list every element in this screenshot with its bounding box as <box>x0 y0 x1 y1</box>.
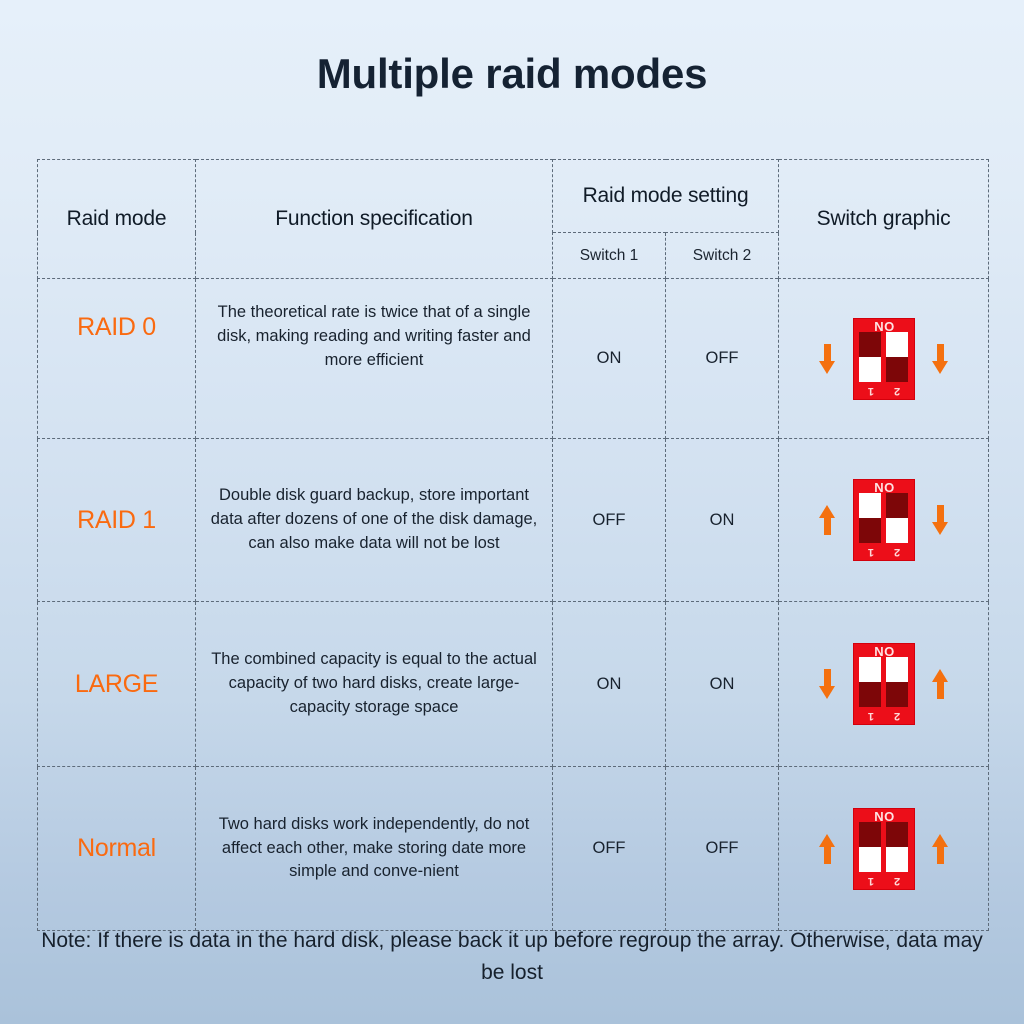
dip-switch-graphic: 2 1 ON <box>779 808 988 890</box>
dip-switch-2 <box>886 494 908 544</box>
header-switch-2: Switch 2 <box>666 233 779 279</box>
arrow-down-icon <box>932 344 949 374</box>
arrow-up-icon <box>932 669 949 699</box>
table-row: LARGE The combined capacity is equal to … <box>38 602 989 767</box>
dip-label-2: 2 <box>894 385 900 396</box>
arrow-up-icon <box>819 505 836 535</box>
dip-switch-graphic: 2 1 ON <box>779 643 988 725</box>
function-specification-text: The theoretical rate is twice that of a … <box>196 279 553 439</box>
function-specification-text: Two hard disks work independently, do no… <box>196 767 553 931</box>
header-function-specification: Function specification <box>196 160 553 279</box>
dip-slider <box>859 658 881 683</box>
function-specification-text: The combined capacity is equal to the ac… <box>196 602 553 767</box>
header-switch-1: Switch 1 <box>553 233 666 279</box>
dip-label-2: 2 <box>894 546 900 557</box>
header-raid-mode: Raid mode <box>38 160 196 279</box>
switch-graphic-cell: 2 1 ON <box>779 602 989 767</box>
dip-switch-numbers: 2 1 <box>854 710 914 721</box>
dip-label-1: 1 <box>867 710 873 721</box>
dip-label-1: 1 <box>867 385 873 396</box>
dip-switch-2 <box>886 658 908 708</box>
dip-switch-1 <box>859 332 881 382</box>
arrow-down-icon <box>819 669 836 699</box>
table-header-row: Raid mode Function specification Raid mo… <box>38 160 989 233</box>
raid-mode-label: RAID 0 <box>38 279 196 439</box>
table-row: Normal Two hard disks work independently… <box>38 767 989 931</box>
dip-slider <box>859 847 881 872</box>
dip-switch-graphic: 2 1 ON <box>779 318 988 400</box>
header-switch-graphic: Switch graphic <box>779 160 989 279</box>
arrow-up-icon <box>932 834 949 864</box>
dip-switch-block: 2 1 ON <box>853 808 915 890</box>
dip-switch-1 <box>859 822 881 872</box>
switch-1-value: ON <box>553 602 666 767</box>
dip-switch-1 <box>859 494 881 544</box>
switch-1-value: ON <box>553 279 666 439</box>
page-title: Multiple raid modes <box>0 0 1024 98</box>
raid-mode-label: Normal <box>38 767 196 931</box>
arrow-down-icon <box>932 505 949 535</box>
dip-slider <box>886 519 908 544</box>
raid-mode-label: RAID 1 <box>38 439 196 602</box>
dip-label-2: 2 <box>894 710 900 721</box>
raid-mode-table: Raid mode Function specification Raid mo… <box>37 159 989 931</box>
dip-switch-numbers: 2 1 <box>854 385 914 396</box>
dip-label-2: 2 <box>894 875 900 886</box>
dip-switch-block: 2 1 ON <box>853 318 915 400</box>
dip-switch-2 <box>886 332 908 382</box>
switch-2-value: ON <box>666 602 779 767</box>
footer-note: Note: If there is data in the hard disk,… <box>0 925 1024 988</box>
dip-slider <box>886 332 908 357</box>
dip-label-1: 1 <box>867 875 873 886</box>
switch-1-value: OFF <box>553 767 666 931</box>
dip-slider <box>886 847 908 872</box>
switch-graphic-cell: 2 1 ON <box>779 279 989 439</box>
switch-2-value: OFF <box>666 767 779 931</box>
arrow-up-icon <box>819 834 836 864</box>
dip-switch-graphic: 2 1 ON <box>779 479 988 561</box>
dip-switch-numbers: 2 1 <box>854 875 914 886</box>
dip-switch-block: 2 1 ON <box>853 643 915 725</box>
dip-switch-1 <box>859 658 881 708</box>
dip-slider <box>859 494 881 519</box>
raid-mode-label: LARGE <box>38 602 196 767</box>
table-row: RAID 1 Double disk guard backup, store i… <box>38 439 989 602</box>
dip-on-label: ON <box>854 810 914 823</box>
dip-slider <box>859 357 881 382</box>
dip-switch-block: 2 1 ON <box>853 479 915 561</box>
switch-1-value: OFF <box>553 439 666 602</box>
switch-2-value: OFF <box>666 279 779 439</box>
raid-mode-table-container: Raid mode Function specification Raid mo… <box>37 159 988 884</box>
table-row: RAID 0 The theoretical rate is twice tha… <box>38 279 989 439</box>
switch-graphic-cell: 2 1 ON <box>779 767 989 931</box>
switch-graphic-cell: 2 1 ON <box>779 439 989 602</box>
dip-on-label: ON <box>854 645 914 658</box>
function-specification-text: Double disk guard backup, store importan… <box>196 439 553 602</box>
dip-on-label: ON <box>854 320 914 333</box>
header-raid-mode-setting: Raid mode setting <box>553 160 779 233</box>
dip-slider <box>886 658 908 683</box>
dip-label-1: 1 <box>867 546 873 557</box>
dip-switch-2 <box>886 822 908 872</box>
arrow-down-icon <box>819 344 836 374</box>
switch-2-value: ON <box>666 439 779 602</box>
dip-switch-numbers: 2 1 <box>854 546 914 557</box>
dip-on-label: ON <box>854 481 914 494</box>
